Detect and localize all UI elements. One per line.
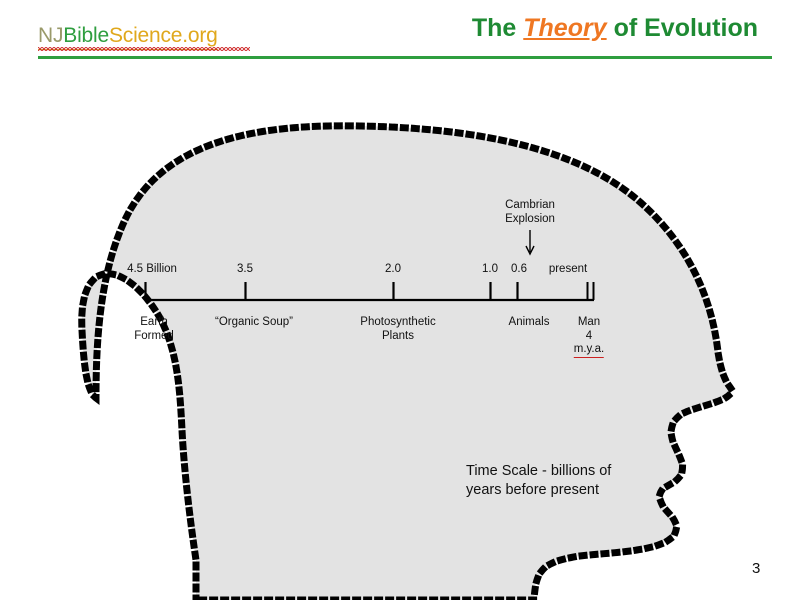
arrow-down-icon <box>526 230 534 254</box>
timeline-graphic <box>0 0 800 600</box>
